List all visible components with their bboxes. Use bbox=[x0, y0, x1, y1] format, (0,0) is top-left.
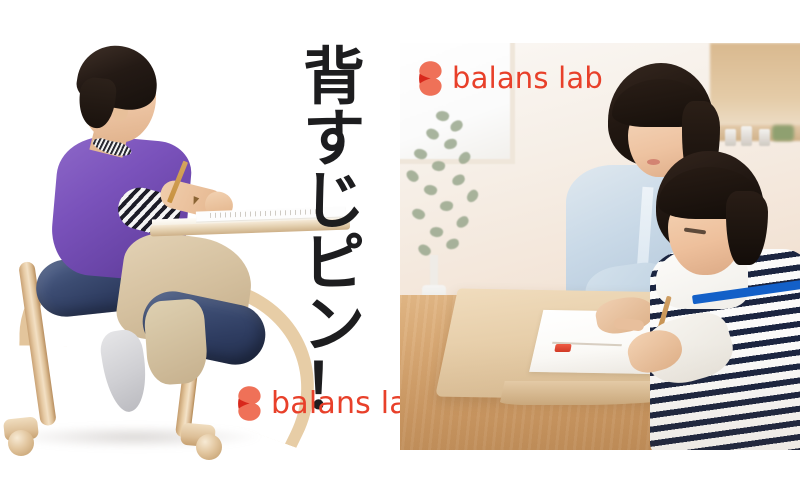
product-banner: 背 す じ ピ ン ！ balans lab bbox=[0, 0, 800, 495]
shelf-plant bbox=[772, 125, 794, 141]
headline-char-2: す bbox=[303, 108, 365, 170]
headline-char-1: 背 bbox=[303, 46, 365, 108]
red-eraser bbox=[554, 344, 571, 352]
headline-vertical-japanese: 背 す じ ピ ン ！ bbox=[286, 46, 382, 376]
shelf-jar bbox=[759, 129, 770, 146]
right-photo-mother-and-boy-studying bbox=[400, 43, 800, 450]
eucalyptus-branches bbox=[400, 105, 502, 275]
balans-lab-logo-mark-icon bbox=[237, 385, 262, 422]
vase-neck bbox=[430, 255, 438, 289]
shelf-jar bbox=[741, 126, 752, 146]
brand-wordmark: balans lab bbox=[452, 64, 603, 93]
brand-logo-lockup-right[interactable]: balans lab bbox=[418, 60, 603, 97]
shelf-jar bbox=[725, 129, 736, 146]
mother-lips bbox=[647, 159, 660, 165]
chair-glide-front bbox=[8, 430, 34, 456]
headline-char-3: じ bbox=[303, 170, 365, 232]
shelf-back-wall bbox=[710, 43, 800, 127]
floor-shadow bbox=[10, 425, 260, 449]
brand-logo-lockup-left[interactable]: balans lab bbox=[237, 385, 427, 422]
boy-pants-lower bbox=[143, 298, 209, 386]
headline-char-5: ン bbox=[303, 294, 365, 356]
headline-char-4: ピ bbox=[303, 232, 365, 294]
chair-glide-rear bbox=[196, 434, 222, 460]
balans-lab-logo-mark-icon bbox=[418, 60, 443, 97]
